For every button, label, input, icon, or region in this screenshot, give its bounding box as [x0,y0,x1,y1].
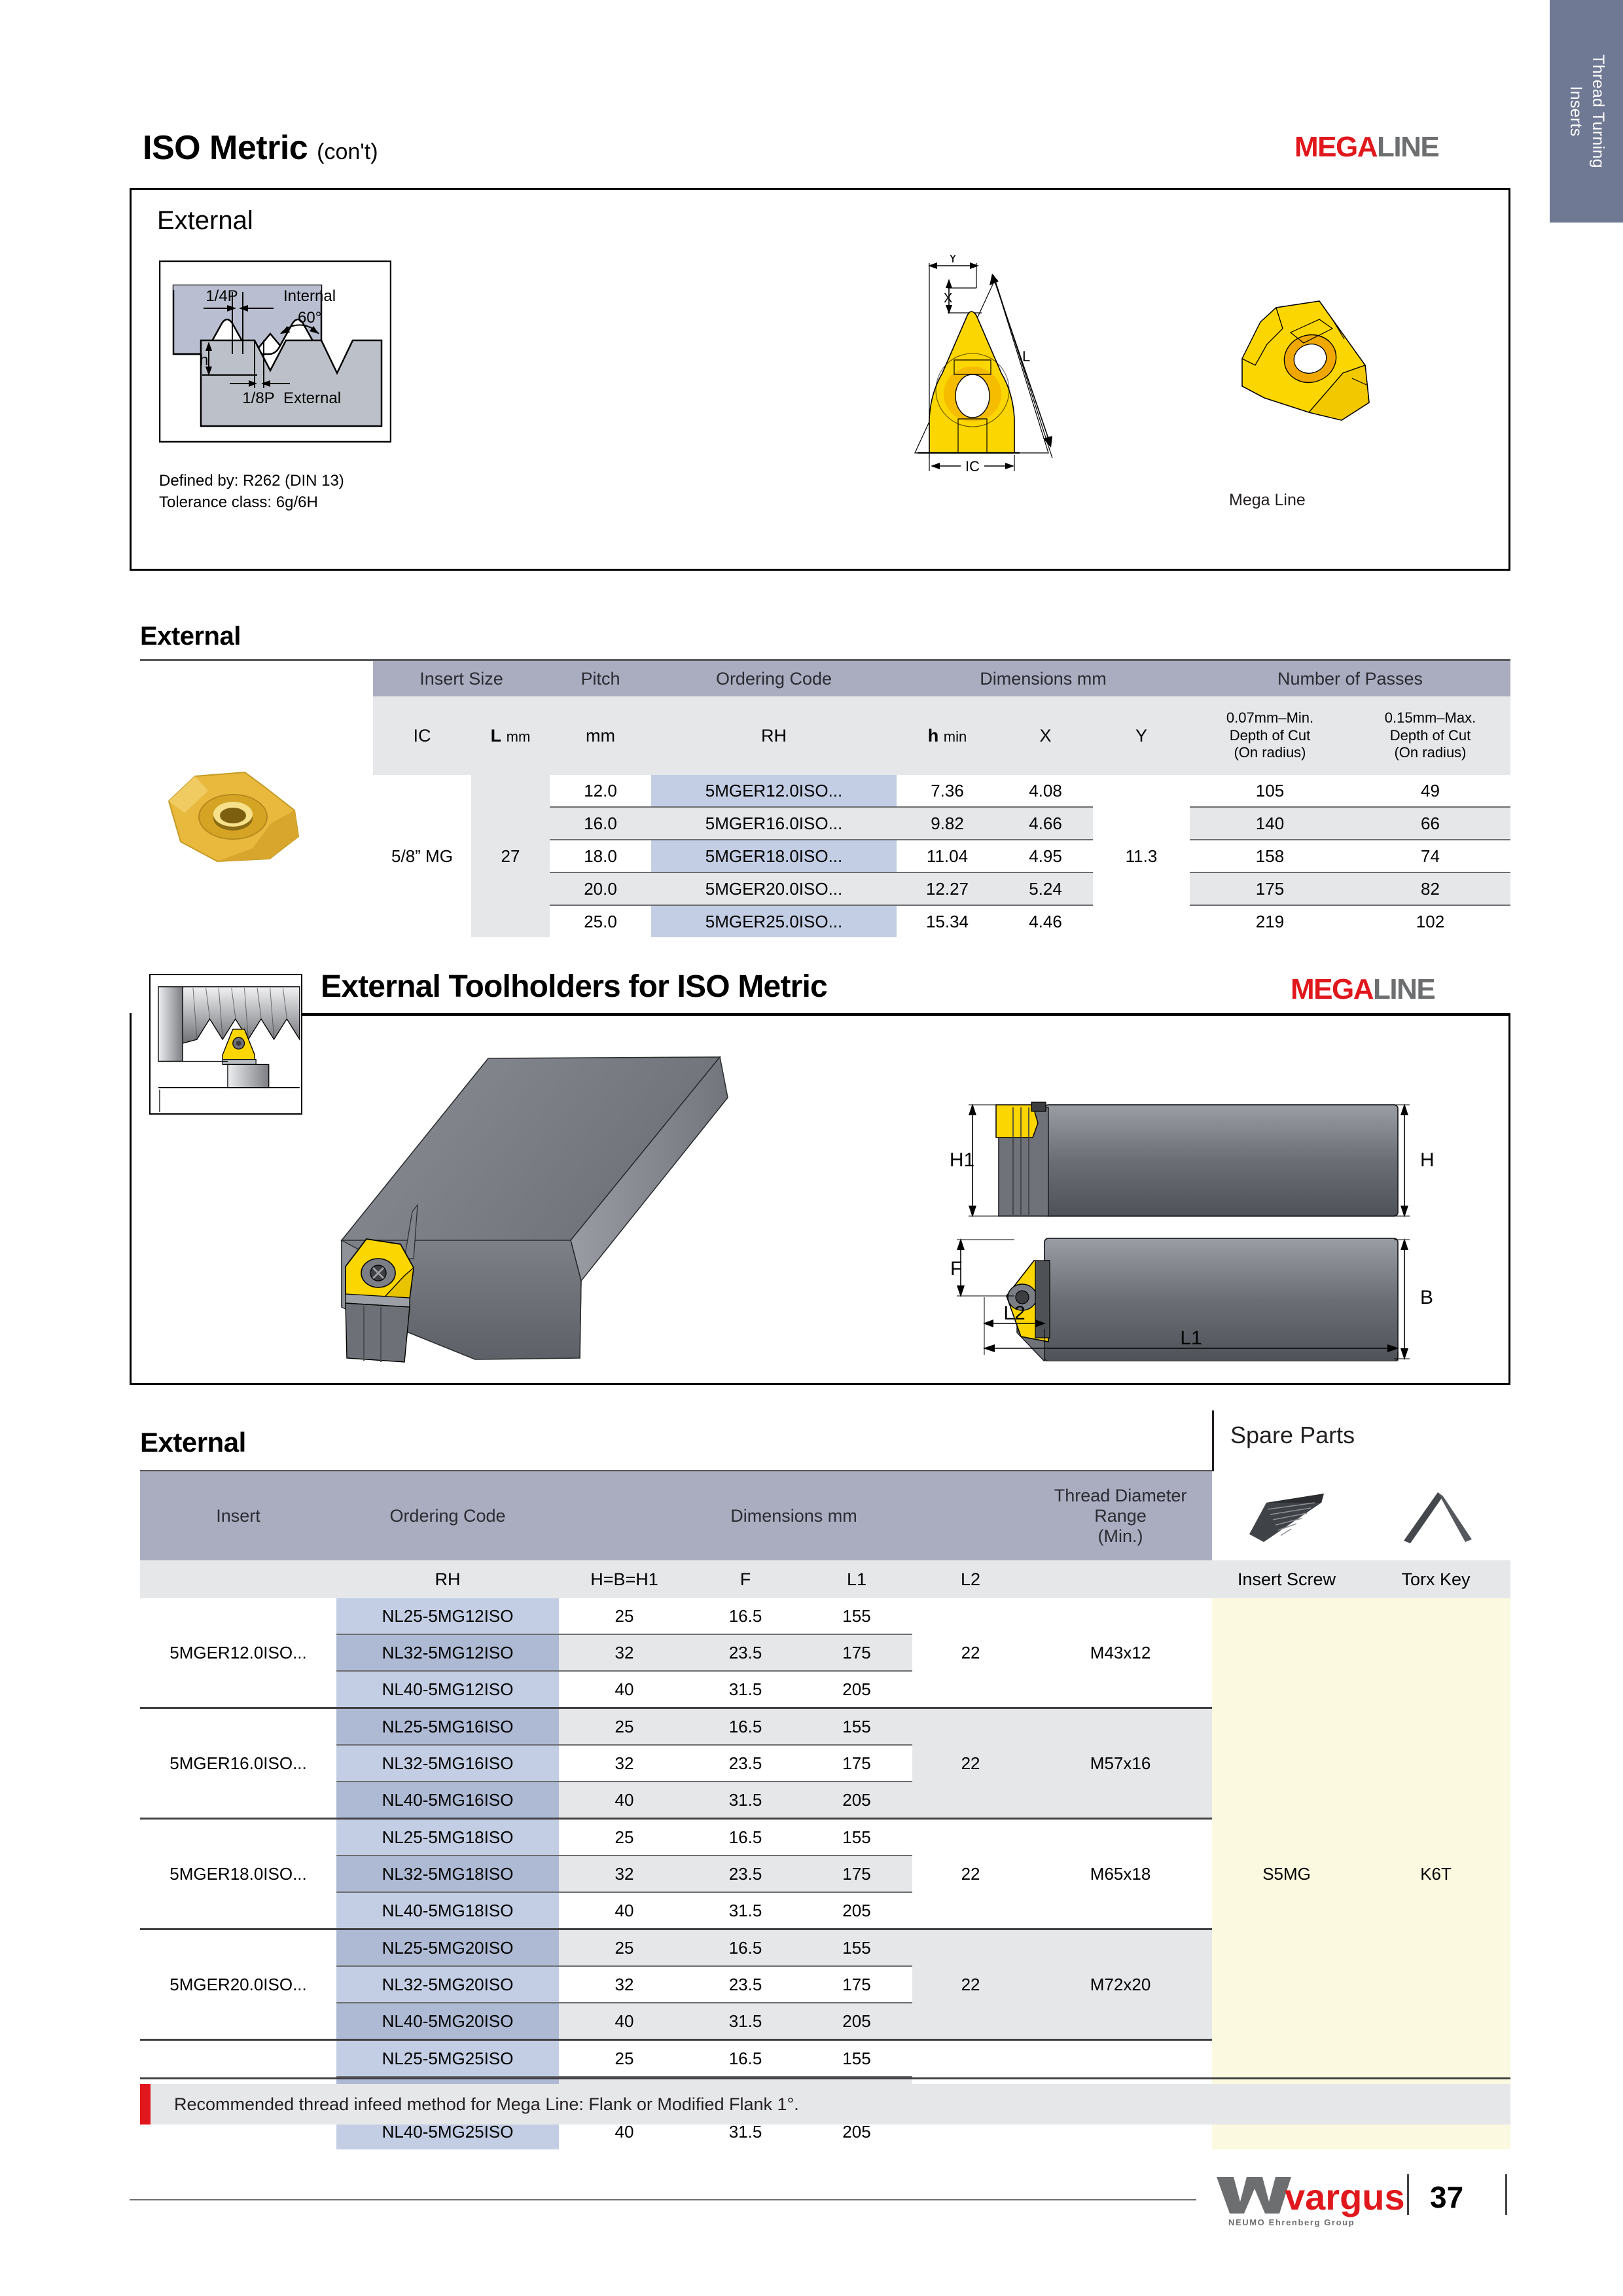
cell-passes-min: 140 [1190,807,1350,840]
cell-ordering-code: NL25-5MG12ISO [336,1598,559,1634]
vargus-subtext: NEUMO Ehrenberg Group [1228,2217,1355,2227]
th-blank [140,1560,336,1598]
cell-ordering-code: NL40-5MG20ISO [336,2003,559,2040]
cell-f: 31.5 [690,2003,801,2040]
table2-sub-header-row: RH H=B=H1 F L1 L2 Insert Screw Torx Key [140,1560,1510,1598]
cell-l1: 155 [801,1598,912,1634]
th-ordering-code: Ordering Code [651,661,897,696]
cell-passes-min: 158 [1190,840,1350,872]
label-quarter-p: 1/4P [205,287,238,305]
box-heading-external: External [157,206,253,236]
insert-caption-mega-line: Mega Line [1229,491,1306,510]
cell-f: 16.5 [690,1708,801,1746]
insert-3d-illustration [1204,281,1400,445]
svg-text:Y: Y [948,255,957,266]
label-eighth-p: 1/8P [242,389,274,407]
label-b: B [1420,1287,1433,1308]
th-rh: RH [336,1560,559,1598]
insert-data-table: Insert Size Pitch Ordering Code Dimensio… [373,661,1510,937]
th-insert: Insert [140,1471,336,1560]
table1-body: 5/8” MG 27 12.0 5MGER12.0ISO... 7.36 4.0… [373,775,1510,937]
cell-pitch: 12.0 [550,775,651,807]
cell-thread-range: M72x20 [1029,1929,1212,2040]
profile-caption: Defined by: R262 (DIN 13) Tolerance clas… [159,470,344,513]
th-pitch-mm: mm [550,696,651,775]
cell-hbh1: 32 [559,1634,690,1671]
section-heading-external-toolholders: External [140,1427,246,1458]
cell-insert: 5MGER20.0ISO... [140,1929,336,2040]
catalog-page: Thread Turning Inserts ISO Metric (con't… [0,0,1623,2296]
cell-passes-min: 219 [1190,905,1350,937]
th-hbh1: H=B=H1 [559,1560,690,1598]
th-l2: L2 [912,1560,1029,1598]
th-insert-screw: Insert Screw [1212,1560,1361,1598]
toolholder-rule [301,1013,1510,1016]
cell-ordering-code: NL32-5MG12ISO [336,1634,559,1671]
cell-l1: 155 [801,2040,912,2077]
cell-ordering-code: NL40-5MG18ISO [336,1892,559,1929]
svg-text:IC: IC [965,458,980,471]
cell-ordering-code: 5MGER18.0ISO... [651,840,897,872]
th-blank-2 [1029,1560,1212,1598]
cell-pitch: 20.0 [550,872,651,905]
cell-hbh1: 25 [559,1929,690,1967]
page-number: 37 [1430,2179,1463,2215]
screw-icon [1238,1483,1336,1549]
cell-l1: 155 [801,1819,912,1856]
cell-insert: 5MGER12.0ISO... [140,1598,336,1708]
cell-l2: 22 [912,1708,1029,1819]
toolholder-threading-inset [149,974,302,1115]
cell-x: 4.66 [998,807,1093,840]
side-tab-thread-turning-inserts: Thread Turning Inserts [1550,0,1623,223]
th-x: X [998,696,1093,775]
cell-f: 23.5 [690,1745,801,1782]
th-dimensions: Dimensions mm [897,661,1190,696]
cell-insert-size-l: 27 [471,775,550,937]
table1-group-header-row: Insert Size Pitch Ordering Code Dimensio… [373,661,1510,696]
cell-x: 5.24 [998,872,1093,905]
footnote-red-marker [140,2084,151,2125]
cell-l1: 175 [801,1745,912,1782]
megaline-mega: MEGA [1294,131,1377,163]
table-row: 5MGER12.0ISO... NL25-5MG12ISO 25 16.5 15… [140,1598,1510,1634]
toolholder-dimension-views: H1 H F B L2 [936,1067,1499,1361]
cell-hbh1: 40 [559,2003,690,2040]
defined-by: Defined by: R262 (DIN 13) [159,470,344,492]
cell-ordering-code: NL32-5MG16ISO [336,1745,559,1782]
cell-f: 23.5 [690,1856,801,1892]
th-rh: RH [651,696,897,775]
cell-h: 15.34 [897,905,998,937]
page-title-suffix: (con't) [317,139,378,164]
spare-parts-heading: Spare Parts [1230,1422,1355,1449]
label-f: F [950,1258,962,1280]
cell-ordering-code: 5MGER25.0ISO... [651,905,897,937]
footnote-rule [140,2077,1510,2079]
side-tab-line1: Thread Turning [1589,54,1607,168]
cell-insert-size-ic: 5/8” MG [373,775,471,937]
cell-passes-max: 66 [1350,807,1510,840]
cell-l1: 205 [801,2003,912,2040]
label-h1: H1 [950,1149,974,1171]
vargus-logo: vargus NEUMO Ehrenberg Group [1214,2172,1410,2231]
cell-ordering-code: NL25-5MG25ISO [336,2040,559,2077]
cell-hbh1: 25 [559,1598,690,1634]
cell-f: 16.5 [690,1819,801,1856]
side-tab-line2: Inserts [1567,86,1585,136]
label-h: H [1420,1149,1435,1171]
cell-l1: 205 [801,1782,912,1819]
th-ic: IC [373,696,471,775]
cell-ordering-code: 5MGER20.0ISO... [651,872,897,905]
cell-l1: 175 [801,1966,912,2003]
cell-ordering-code: 5MGER16.0ISO... [651,807,897,840]
cell-passes-min: 175 [1190,872,1350,905]
torx-key-icon-cell [1361,1471,1510,1560]
cell-x: 4.46 [998,905,1093,937]
cell-insert: 5MGER18.0ISO... [140,1819,336,1929]
cell-l1: 175 [801,1634,912,1671]
megaline-mega: MEGA [1291,973,1373,1005]
th-passes-min: 0.07mm–Min. Depth of Cut (On radius) [1190,696,1350,775]
cell-hbh1: 25 [559,1819,690,1856]
cell-passes-max: 102 [1350,905,1510,937]
th-passes-max: 0.15mm–Max. Depth of Cut (On radius) [1350,696,1510,775]
toolholder-section-title: External Toolholders for ISO Metric [321,969,827,1005]
side-tab-label: Thread Turning Inserts [1564,54,1609,168]
cell-insert-screw: S5MG [1212,1598,1361,2149]
toolholder-3d-illustration [327,1050,844,1378]
thread-profile-diagram: 1/4P Internal 60° h 1/8P External [159,260,391,454]
cell-hbh1: 32 [559,1745,690,1782]
label-h: h [200,351,208,369]
cell-thread-range: M43x12 [1029,1598,1212,1708]
cell-l1: 155 [801,1708,912,1746]
cell-l2: 22 [912,1598,1029,1708]
th-number-of-passes: Number of Passes [1190,661,1510,696]
cell-h: 9.82 [897,807,998,840]
insert-photo [154,750,318,881]
th-pitch: Pitch [550,661,651,696]
insert-dimension-diagram: Y X L IC [903,255,1217,471]
megaline-logo-top: MEGALINE [1294,131,1438,164]
label-external: External [283,389,341,407]
cell-pitch: 16.0 [550,807,651,840]
cell-hbh1: 40 [559,1892,690,1929]
page-divider-right [1505,2174,1507,2215]
megaline-line: LINE [1373,973,1435,1005]
cell-h: 12.27 [897,872,998,905]
cell-f: 23.5 [690,1634,801,1671]
cell-l1: 205 [801,1671,912,1708]
cell-hbh1: 40 [559,1671,690,1708]
cell-l1: 205 [801,1892,912,1929]
insert-screw-icon-cell [1212,1471,1361,1560]
cell-l2: 22 [912,1819,1029,1929]
cell-passes-max: 82 [1350,872,1510,905]
th-ordering-code: Ordering Code [336,1471,559,1560]
th-dimensions: Dimensions mm [559,1471,1029,1560]
table1-sub-header-row: IC L mm mm RH h min X Y 0.07mm–Min. Dept… [373,696,1510,775]
page-title-main: ISO Metric [143,129,308,167]
cell-f: 16.5 [690,1598,801,1634]
th-h-min: h min [897,696,998,775]
cell-f: 31.5 [690,1782,801,1819]
cell-ordering-code: NL40-5MG12ISO [336,1671,559,1708]
th-thread-range: Thread Diameter Range (Min.) [1029,1471,1212,1560]
cell-h: 11.04 [897,840,998,872]
cell-torx-key: K6T [1361,1598,1510,2149]
vargus-wordmark: vargus [1285,2176,1405,2217]
cell-hbh1: 40 [559,1782,690,1819]
megaline-line: LINE [1377,131,1438,163]
cell-pitch: 18.0 [550,840,651,872]
svg-text:L: L [1022,348,1030,365]
cell-l1: 155 [801,1929,912,1967]
cell-ordering-code: 5MGER12.0ISO... [651,775,897,807]
cell-passes-min: 105 [1190,775,1350,807]
cell-ordering-code: NL32-5MG18ISO [336,1856,559,1892]
cell-x: 4.95 [998,840,1093,872]
cell-y: 11.3 [1093,775,1190,937]
footer-rule [130,2199,1196,2200]
section-heading-external-inserts: External [140,622,241,651]
cell-l2: 22 [912,1929,1029,2040]
th-f: F [690,1560,801,1598]
th-torx-key: Torx Key [1361,1560,1510,1598]
table2-group-header-row: Insert Ordering Code Dimensions mm Threa… [140,1471,1510,1560]
cell-hbh1: 25 [559,1708,690,1746]
cell-passes-max: 74 [1350,840,1510,872]
torx-key-icon [1387,1483,1485,1549]
th-l1: L1 [801,1560,912,1598]
table-row: 5/8” MG 27 12.0 5MGER12.0ISO... 7.36 4.0… [373,775,1510,807]
cell-ordering-code: NL32-5MG20ISO [336,1966,559,2003]
th-insert-size: Insert Size [373,661,550,696]
cell-pitch: 25.0 [550,905,651,937]
cell-h: 7.36 [897,775,998,807]
tolerance-class: Tolerance class: 6g/6H [159,492,344,513]
cell-f: 31.5 [690,1671,801,1708]
footnote-text: Recommended thread infeed method for Meg… [174,2094,799,2115]
page-title: ISO Metric (con't) [143,128,378,168]
cell-thread-range: M65x18 [1029,1819,1212,1929]
cell-x: 4.08 [998,775,1093,807]
cell-hbh1: 32 [559,1856,690,1892]
label-l1: L1 [1180,1327,1202,1349]
cell-ordering-code: NL25-5MG18ISO [336,1819,559,1856]
cell-passes-max: 49 [1350,775,1510,807]
cell-f: 23.5 [690,1966,801,2003]
cell-f: 16.5 [690,2040,801,2077]
svg-text:X: X [944,291,952,306]
cell-ordering-code: NL25-5MG16ISO [336,1708,559,1746]
label-l2: L2 [1003,1302,1025,1324]
cell-thread-range: M57x16 [1029,1708,1212,1819]
cell-hbh1: 32 [559,1966,690,2003]
cell-f: 31.5 [690,1892,801,1929]
table2-body: 5MGER12.0ISO... NL25-5MG12ISO 25 16.5 15… [140,1598,1510,2149]
page-divider-left [1407,2174,1409,2215]
toolholder-data-table: Insert Ordering Code Dimensions mm Threa… [140,1471,1510,2149]
label-internal: Internal [283,287,336,305]
cell-ordering-code: NL40-5MG16ISO [336,1782,559,1819]
label-angle: 60° [298,309,321,327]
cell-hbh1: 25 [559,2040,690,2077]
megaline-logo-toolholder: MEGALINE [1291,973,1435,1006]
cell-f: 16.5 [690,1929,801,1967]
cell-insert: 5MGER16.0ISO... [140,1708,336,1819]
th-y: Y [1093,696,1190,775]
cell-l1: 175 [801,1856,912,1892]
th-l-mm: L mm [471,696,550,775]
cell-ordering-code: NL25-5MG20ISO [336,1929,559,1967]
